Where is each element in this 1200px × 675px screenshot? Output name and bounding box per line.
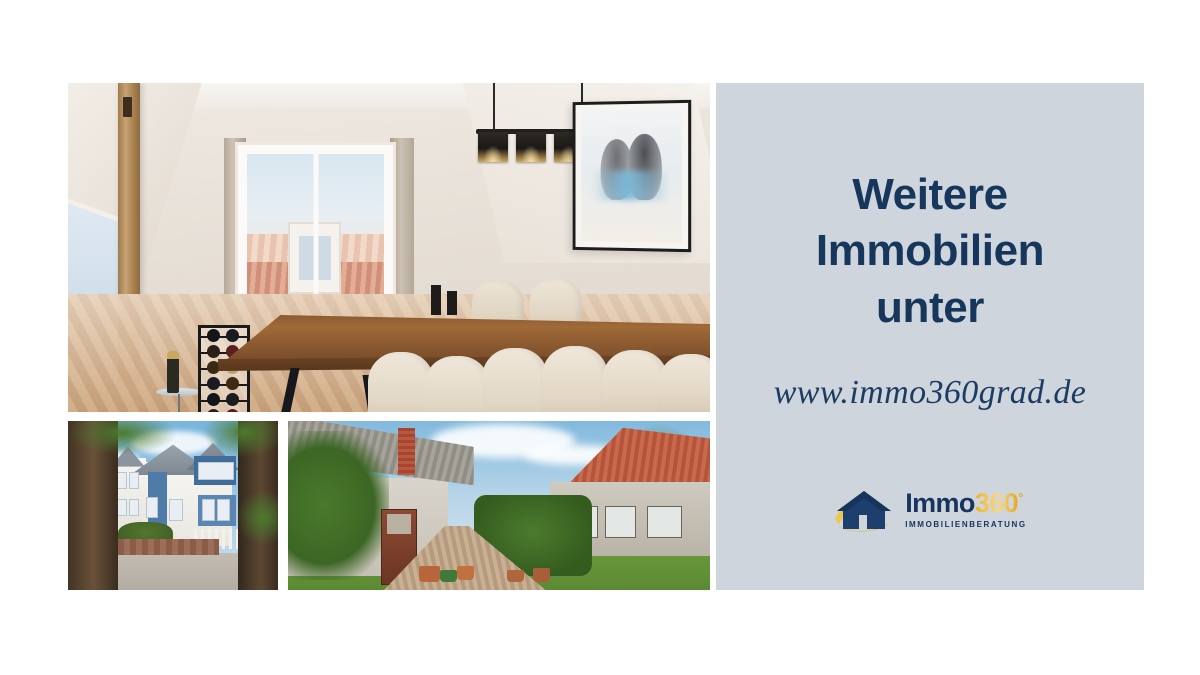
brick-wall xyxy=(106,539,219,554)
wine-bottle xyxy=(207,345,220,358)
cottage-window xyxy=(605,506,637,538)
wine-bottle xyxy=(226,409,239,412)
logo-tagline: IMMOBILIENBERATUNG xyxy=(905,521,1027,529)
foliage xyxy=(202,421,278,458)
dining-chair xyxy=(424,356,490,412)
website-url[interactable]: www.immo360grad.de xyxy=(774,374,1087,412)
lamp-rod-left xyxy=(493,83,495,131)
lamp-shade xyxy=(516,132,546,162)
lamp-shade xyxy=(478,132,508,162)
villa-window xyxy=(129,499,139,516)
logo-brand-accent: 360 xyxy=(975,490,1018,517)
flower-pot xyxy=(440,570,457,582)
artwork-canvas xyxy=(581,109,682,243)
house-with-swoosh-logo-mark xyxy=(833,485,895,533)
dining-chair xyxy=(530,279,582,323)
degree-icon: ° xyxy=(1018,491,1023,504)
wine-bottle xyxy=(207,377,220,390)
logo-brand-primary: Immo xyxy=(905,490,975,517)
villa-window xyxy=(146,497,159,518)
info-panel: Weitere Immobilien unter www.immo360grad… xyxy=(716,83,1144,590)
cottage-window xyxy=(647,506,683,538)
villa-window xyxy=(198,462,234,481)
dining-chair xyxy=(542,346,608,412)
dining-chair xyxy=(482,348,548,412)
flower-pot xyxy=(419,566,440,581)
ivy-growth xyxy=(288,431,389,580)
page-title: Weitere Immobilien unter xyxy=(816,167,1044,336)
wine-bottle xyxy=(226,329,239,342)
decor-candle xyxy=(431,285,441,315)
villa-window xyxy=(217,499,230,521)
framed-artwork xyxy=(573,100,692,252)
headline-line-3: unter xyxy=(816,280,1044,336)
wine-bottle xyxy=(226,393,239,406)
photo-white-blue-villa xyxy=(68,421,278,590)
wine-bottle xyxy=(207,393,220,406)
villa-window xyxy=(129,472,139,489)
flower-pot xyxy=(457,566,474,580)
brick-chimney xyxy=(398,428,415,475)
logo-wordmark: Immo 360 ° IMMOBILIENBERATUNG xyxy=(905,490,1027,529)
champagne-bottle xyxy=(167,351,179,393)
artwork-blue-wash xyxy=(593,171,670,200)
marketing-banner: Weitere Immobilien unter www.immo360grad… xyxy=(0,0,1200,675)
side-table-leg xyxy=(178,394,180,412)
villa-window xyxy=(169,499,184,521)
wine-bottle xyxy=(207,329,220,342)
villa-window xyxy=(202,499,215,521)
foliage xyxy=(236,489,278,546)
photo-ivy-covered-cottage xyxy=(288,421,710,590)
decor-candle xyxy=(447,291,457,315)
brand-logo[interactable]: Immo 360 ° IMMOBILIENBERATUNG xyxy=(716,485,1144,533)
headline-line-2: Immobilien xyxy=(816,223,1044,279)
photo-attic-dining-room xyxy=(68,83,710,412)
wine-bottle xyxy=(226,377,239,390)
flower-pot xyxy=(533,568,550,582)
wine-bottle xyxy=(207,409,220,412)
flower-pot xyxy=(507,570,524,582)
dining-chair xyxy=(472,281,524,323)
dining-chair xyxy=(658,354,710,412)
headline-line-1: Weitere xyxy=(816,167,1044,223)
foliage xyxy=(68,421,177,455)
